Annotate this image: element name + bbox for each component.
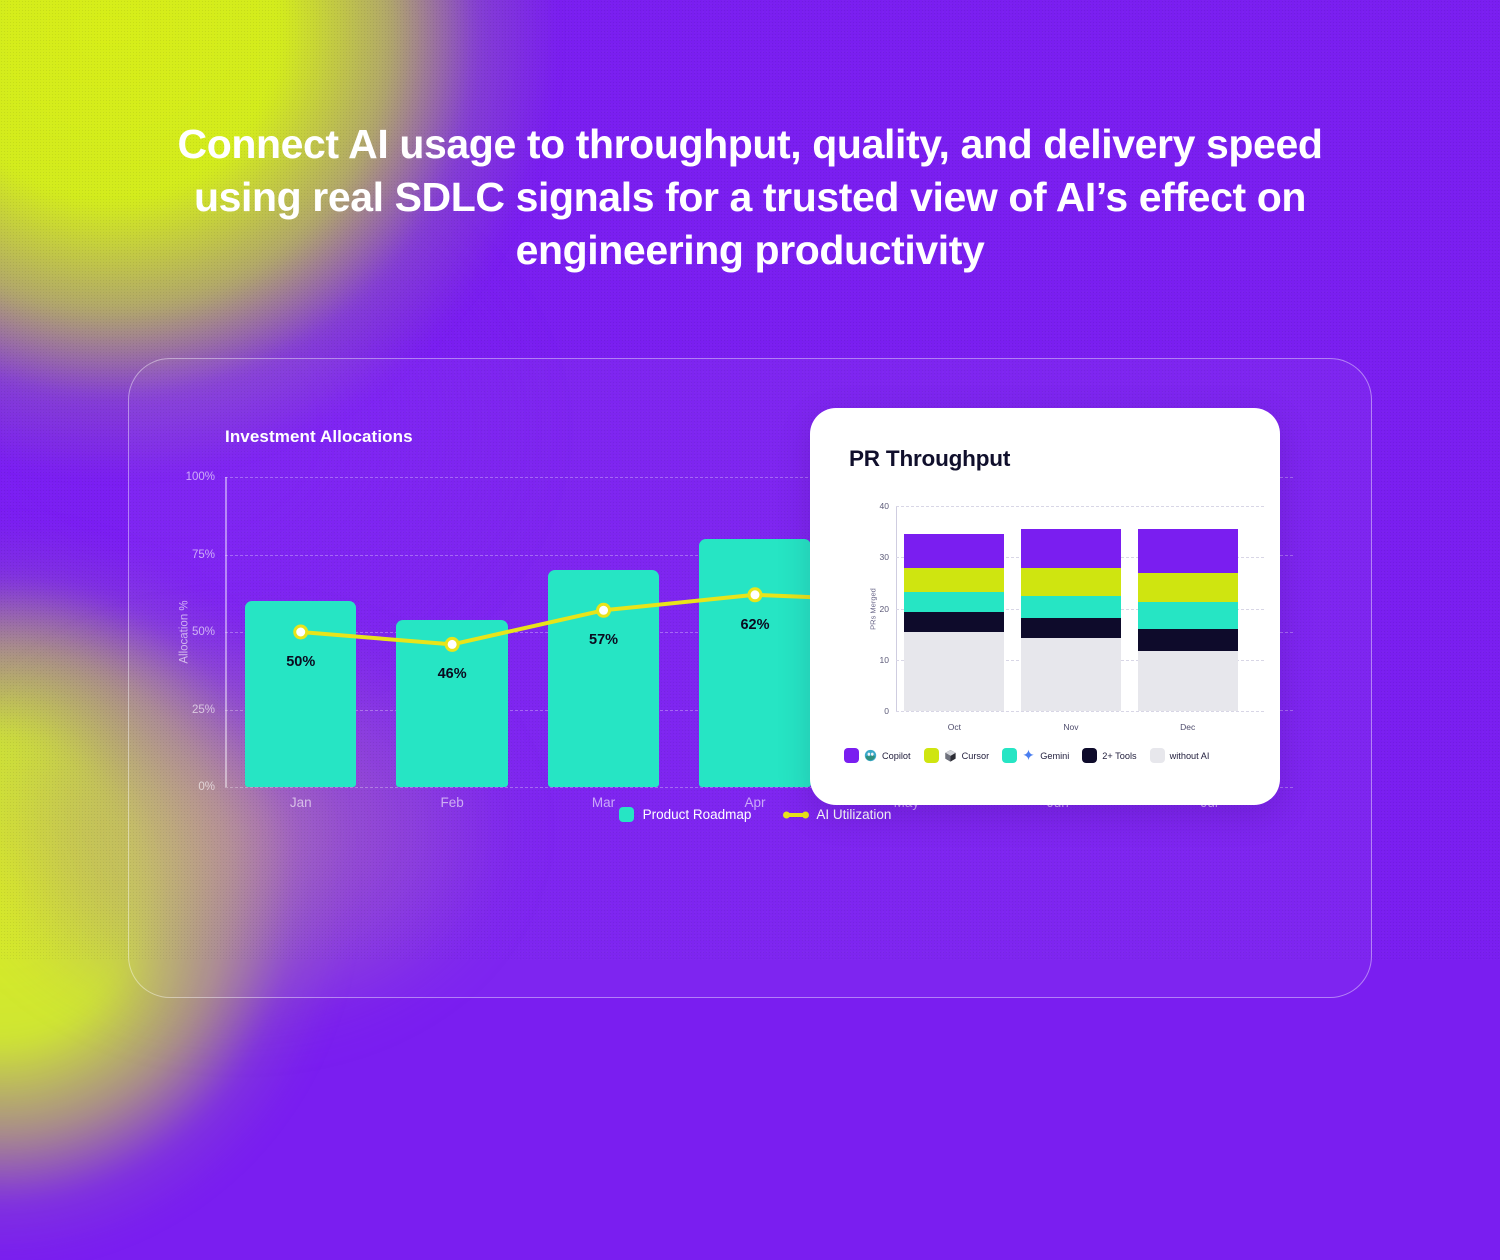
pr-x-tick-label: Dec [1138, 722, 1238, 732]
investment-allocations-title: Investment Allocations [225, 427, 413, 447]
pr-y-tick-label: 0 [863, 706, 889, 716]
allocations-bar-slot[interactable]: 50%Jan [245, 477, 356, 787]
allocations-legend-label: AI Utilization [816, 807, 891, 822]
allocations-bar-slot[interactable]: 46%Feb [396, 477, 507, 787]
pr-bar-segment[interactable] [1021, 529, 1121, 568]
pr-legend-label: without AI [1170, 751, 1210, 761]
page-title: Connect AI usage to throughput, quality,… [0, 118, 1500, 277]
legend-line-marker-icon [785, 813, 807, 817]
pr-throughput-legend: CopilotCursorGemini2+ Toolswithout AI [844, 748, 1262, 763]
pr-bar-slot[interactable]: Nov [1021, 506, 1121, 711]
pr-legend-label: Cursor [962, 751, 990, 761]
pr-bar-segment[interactable] [904, 632, 1004, 711]
pr-bar-segment[interactable] [1138, 602, 1238, 629]
gemini-sparkle-icon [1022, 749, 1035, 762]
allocations-bar[interactable] [699, 539, 810, 787]
allocations-y-tick-label: 25% [163, 704, 215, 716]
allocations-value-label: 57% [548, 632, 659, 648]
pr-bar-segment[interactable] [1138, 529, 1238, 573]
pr-throughput-card: PR Throughput PRs Merged 010203040 OctNo… [810, 408, 1280, 805]
pr-bar-slot[interactable]: Dec [1138, 506, 1238, 711]
pr-throughput-title: PR Throughput [849, 446, 1010, 472]
pr-bar-slot[interactable]: Oct [904, 506, 1004, 711]
pr-y-tick-label: 40 [863, 501, 889, 511]
allocations-bar-slot[interactable]: 62%Apr [699, 477, 810, 787]
allocations-legend-item[interactable]: AI Utilization [785, 807, 891, 822]
pr-bar-segment[interactable] [1138, 651, 1238, 711]
cursor-cube-icon [944, 749, 957, 762]
pr-bar-segment[interactable] [1021, 596, 1121, 618]
pr-legend-label: Gemini [1040, 751, 1069, 761]
pr-gridline [896, 711, 1264, 712]
allocations-value-label: 46% [396, 666, 507, 682]
pr-x-tick-label: Oct [904, 722, 1004, 732]
pr-y-tick-label: 30 [863, 552, 889, 562]
legend-color-swatch-icon [1002, 748, 1017, 763]
pr-legend-item[interactable]: Cursor [924, 748, 990, 763]
pr-y-tick-label: 20 [863, 604, 889, 614]
pr-y-tick-label: 10 [863, 655, 889, 665]
pr-bar-segment[interactable] [1021, 618, 1121, 639]
pr-bar-segment[interactable] [1138, 629, 1238, 651]
legend-color-swatch-icon [924, 748, 939, 763]
pr-legend-item[interactable]: Copilot [844, 748, 911, 763]
allocations-y-tick-label: 75% [163, 549, 215, 561]
pr-legend-item[interactable]: 2+ Tools [1082, 748, 1136, 763]
pr-bar-segment[interactable] [904, 592, 1004, 612]
pr-throughput-chart: PRs Merged 010203040 OctNovDec [896, 506, 1246, 711]
pr-x-tick-label: Nov [1021, 722, 1121, 732]
pr-legend-label: 2+ Tools [1102, 751, 1136, 761]
allocations-y-tick-label: 100% [163, 471, 215, 483]
pr-bar-segment[interactable] [904, 534, 1004, 567]
allocations-legend-item[interactable]: Product Roadmap [619, 807, 752, 822]
legend-color-swatch-icon [844, 748, 859, 763]
allocations-bar[interactable] [245, 601, 356, 787]
copilot-icon [864, 749, 877, 762]
allocations-y-tick-label: 0% [163, 781, 215, 793]
pr-bar-segment[interactable] [1021, 638, 1121, 711]
legend-color-swatch-icon [1082, 748, 1097, 763]
allocations-legend-label: Product Roadmap [643, 807, 752, 822]
allocations-legend: Product RoadmapAI Utilization [225, 807, 1285, 822]
allocations-value-label: 50% [245, 654, 356, 670]
pr-bar-segment[interactable] [904, 612, 1004, 631]
legend-color-swatch-icon [1150, 748, 1165, 763]
pr-bar-segment[interactable] [1021, 568, 1121, 596]
pr-bar-segment[interactable] [1138, 573, 1238, 603]
allocations-value-label: 62% [699, 617, 810, 633]
allocations-bar-slot[interactable]: 57%Mar [548, 477, 659, 787]
allocations-y-tick-label: 50% [163, 626, 215, 638]
pr-legend-label: Copilot [882, 751, 911, 761]
pr-legend-item[interactable]: without AI [1150, 748, 1210, 763]
allocations-bar[interactable] [396, 620, 507, 787]
legend-square-swatch-icon [619, 807, 634, 822]
pr-legend-item[interactable]: Gemini [1002, 748, 1069, 763]
allocations-bar[interactable] [548, 570, 659, 787]
pr-bar-segment[interactable] [904, 568, 1004, 593]
